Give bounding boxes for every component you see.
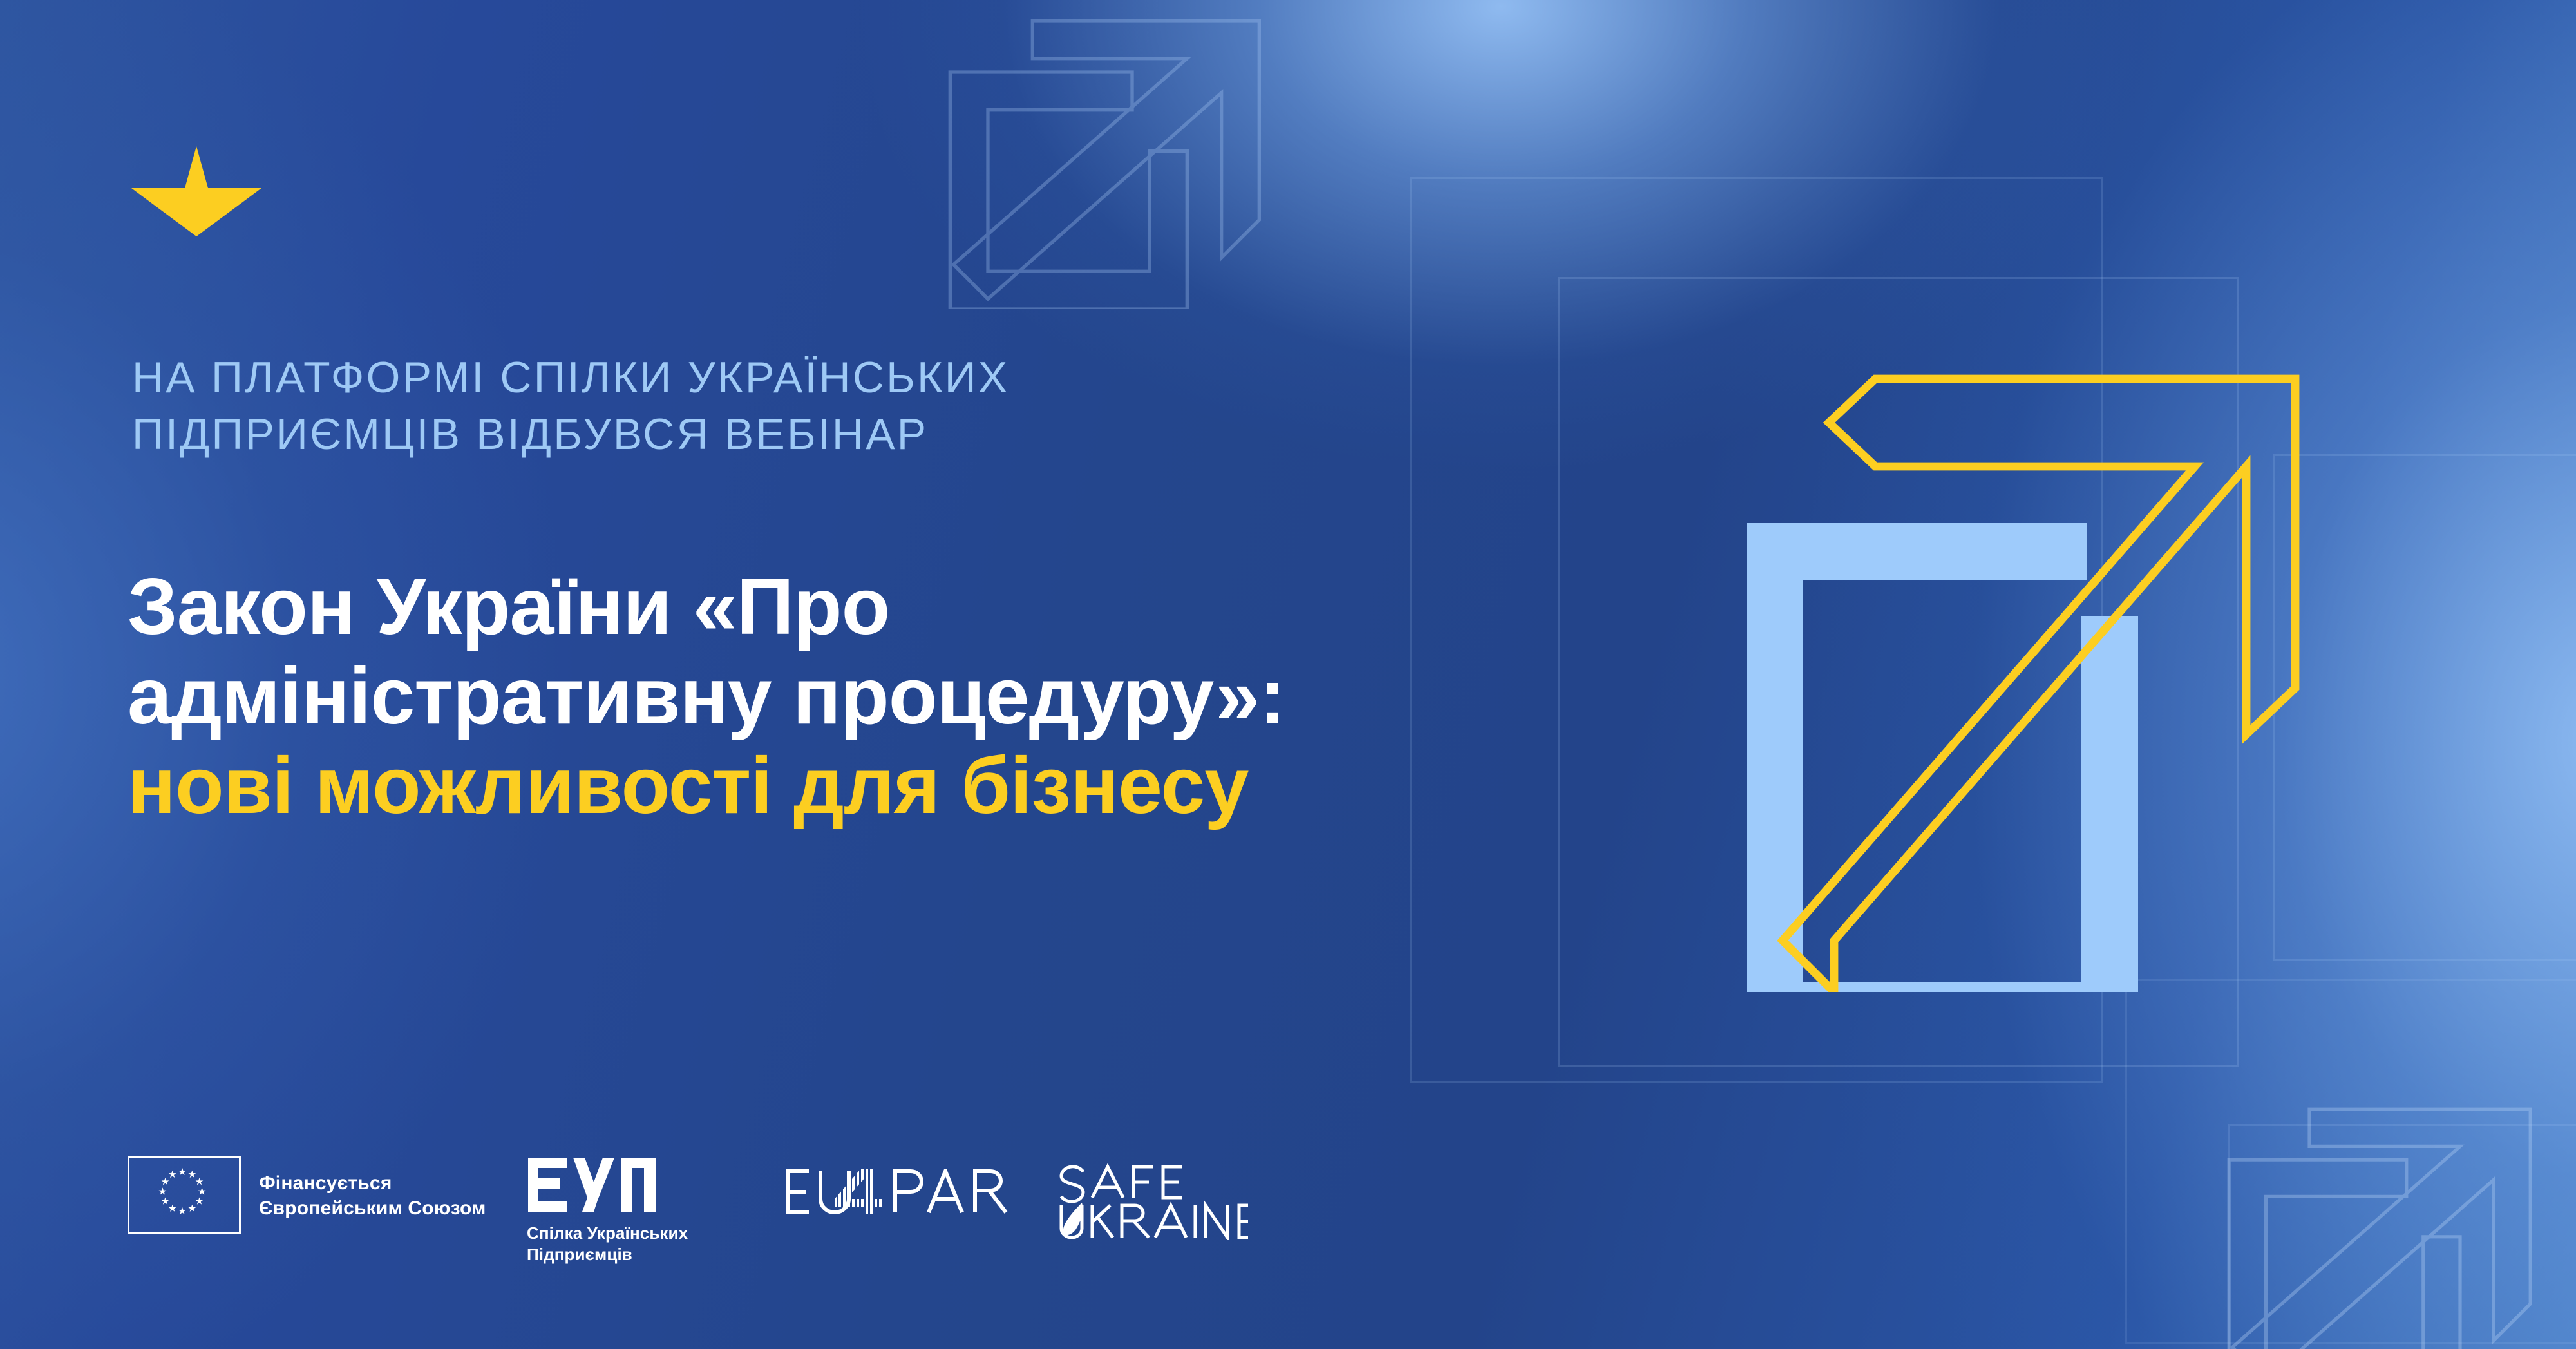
external-link-arrow-graphic xyxy=(1649,296,2370,992)
eyebrow-line-1: НА ПЛАТФОРМІ СПІЛКИ УКРАЇНСЬКИХ xyxy=(132,349,1356,406)
logo-eu-funding: Фінансується Європейським Союзом xyxy=(128,1156,527,1234)
logo-strip: Фінансується Європейським Союзом xyxy=(128,1156,1267,1272)
logo-sup: Спілка Українських Підприємців xyxy=(527,1156,784,1265)
headline-line-1: Закон України «Про xyxy=(128,562,1628,652)
eyebrow-text: НА ПЛАТФОРМІ СПІЛКИ УКРАЇНСЬКИХ ПІДПРИЄМ… xyxy=(132,349,1356,463)
eu4par-numeral-4 xyxy=(829,1169,887,1214)
sup-star-mark-icon: four-point-downward-star xyxy=(122,139,270,242)
sup-wordmark-icon xyxy=(527,1158,784,1215)
eu4par-numeral: 4 xyxy=(1016,1169,1017,1170)
deco-external-link-icon-bottom xyxy=(2209,1089,2544,1349)
hero-arrow-shape xyxy=(1783,379,2295,992)
deco-rect-outline-4 xyxy=(2228,1124,2576,1349)
safe-line-2: UKRAINE xyxy=(1248,1163,1249,1163)
deco-rect-outline-5 xyxy=(2125,979,2576,1344)
logo-eu4par: EU 4 PAR xyxy=(784,1156,1055,1218)
page-title: Закон України «Про адміністративну проце… xyxy=(128,562,1628,831)
deco-external-link-icon-top xyxy=(927,0,1275,309)
sup-caption-line-2: Підприємців xyxy=(527,1244,784,1265)
star-mark-label: four-point-downward-star xyxy=(270,139,271,139)
safe-ukraine-leaf-icon xyxy=(1063,1203,1083,1235)
banner-canvas: four-point-downward-star НА ПЛАТФОРМІ СП… xyxy=(0,0,2576,1349)
eu-caption-line-2: Європейським Союзом xyxy=(259,1196,486,1221)
eu-caption-line-1: Фінансується xyxy=(259,1171,486,1196)
eu4par-suffix: PAR xyxy=(1016,1169,1017,1170)
headline-line-3-accent: нові можливості для бізнесу xyxy=(128,741,1628,831)
eu-flag-icon xyxy=(128,1156,241,1234)
sup-caption-line-1: Спілка Українських xyxy=(527,1223,784,1244)
sup-caption: Спілка Українських Підприємців xyxy=(527,1223,784,1265)
eu4par-prefix: EU xyxy=(1016,1169,1017,1170)
logo-safe-ukraine: SAFE UKRAINE xyxy=(1055,1156,1267,1243)
safe-line-1: SAFE xyxy=(1248,1163,1249,1163)
eyebrow-line-2: ПІДПРИЄМЦІВ ВІДБУВСЯ ВЕБІНАР xyxy=(132,406,1356,463)
headline-line-2: адміністративну процедуру»: xyxy=(128,652,1628,741)
eu-funding-caption: Фінансується Європейським Союзом xyxy=(259,1171,486,1221)
